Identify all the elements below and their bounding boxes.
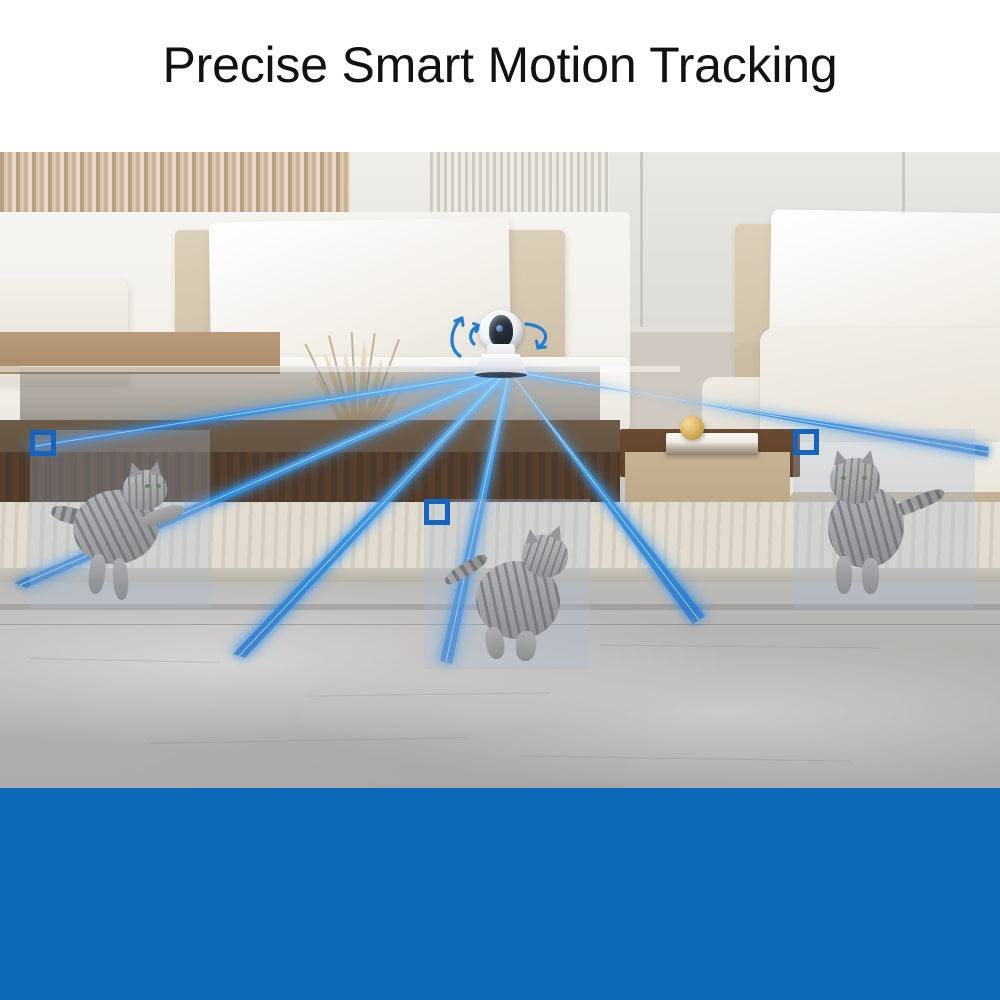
footer-banner: When motion activity is detected, tracks… — [0, 788, 1000, 1000]
bracket-corner-bottom-right — [424, 499, 450, 525]
tilt-rotation-arrow — [452, 318, 462, 356]
bracket-corner-bottom-right — [30, 430, 56, 456]
tracking-bracket-right — [793, 429, 975, 609]
title-bar: Precise Smart Motion Tracking — [0, 0, 1000, 152]
bracket-corner-bottom-right — [793, 429, 819, 455]
product-feature-page: Precise Smart Motion Tracking — [0, 0, 1000, 1000]
camera-base — [474, 354, 528, 374]
tracking-highlight-fill — [30, 430, 210, 608]
tapo-pan-tilt-camera — [470, 310, 532, 380]
camera-base-shadow — [475, 372, 527, 378]
tracking-bracket-left — [30, 430, 210, 608]
camera-lens-reflection — [496, 325, 503, 332]
tracking-bracket-center — [424, 499, 590, 669]
living-room-scene — [0, 152, 1000, 788]
tracking-highlight-fill — [793, 429, 975, 609]
page-title: Precise Smart Motion Tracking — [0, 36, 1000, 94]
